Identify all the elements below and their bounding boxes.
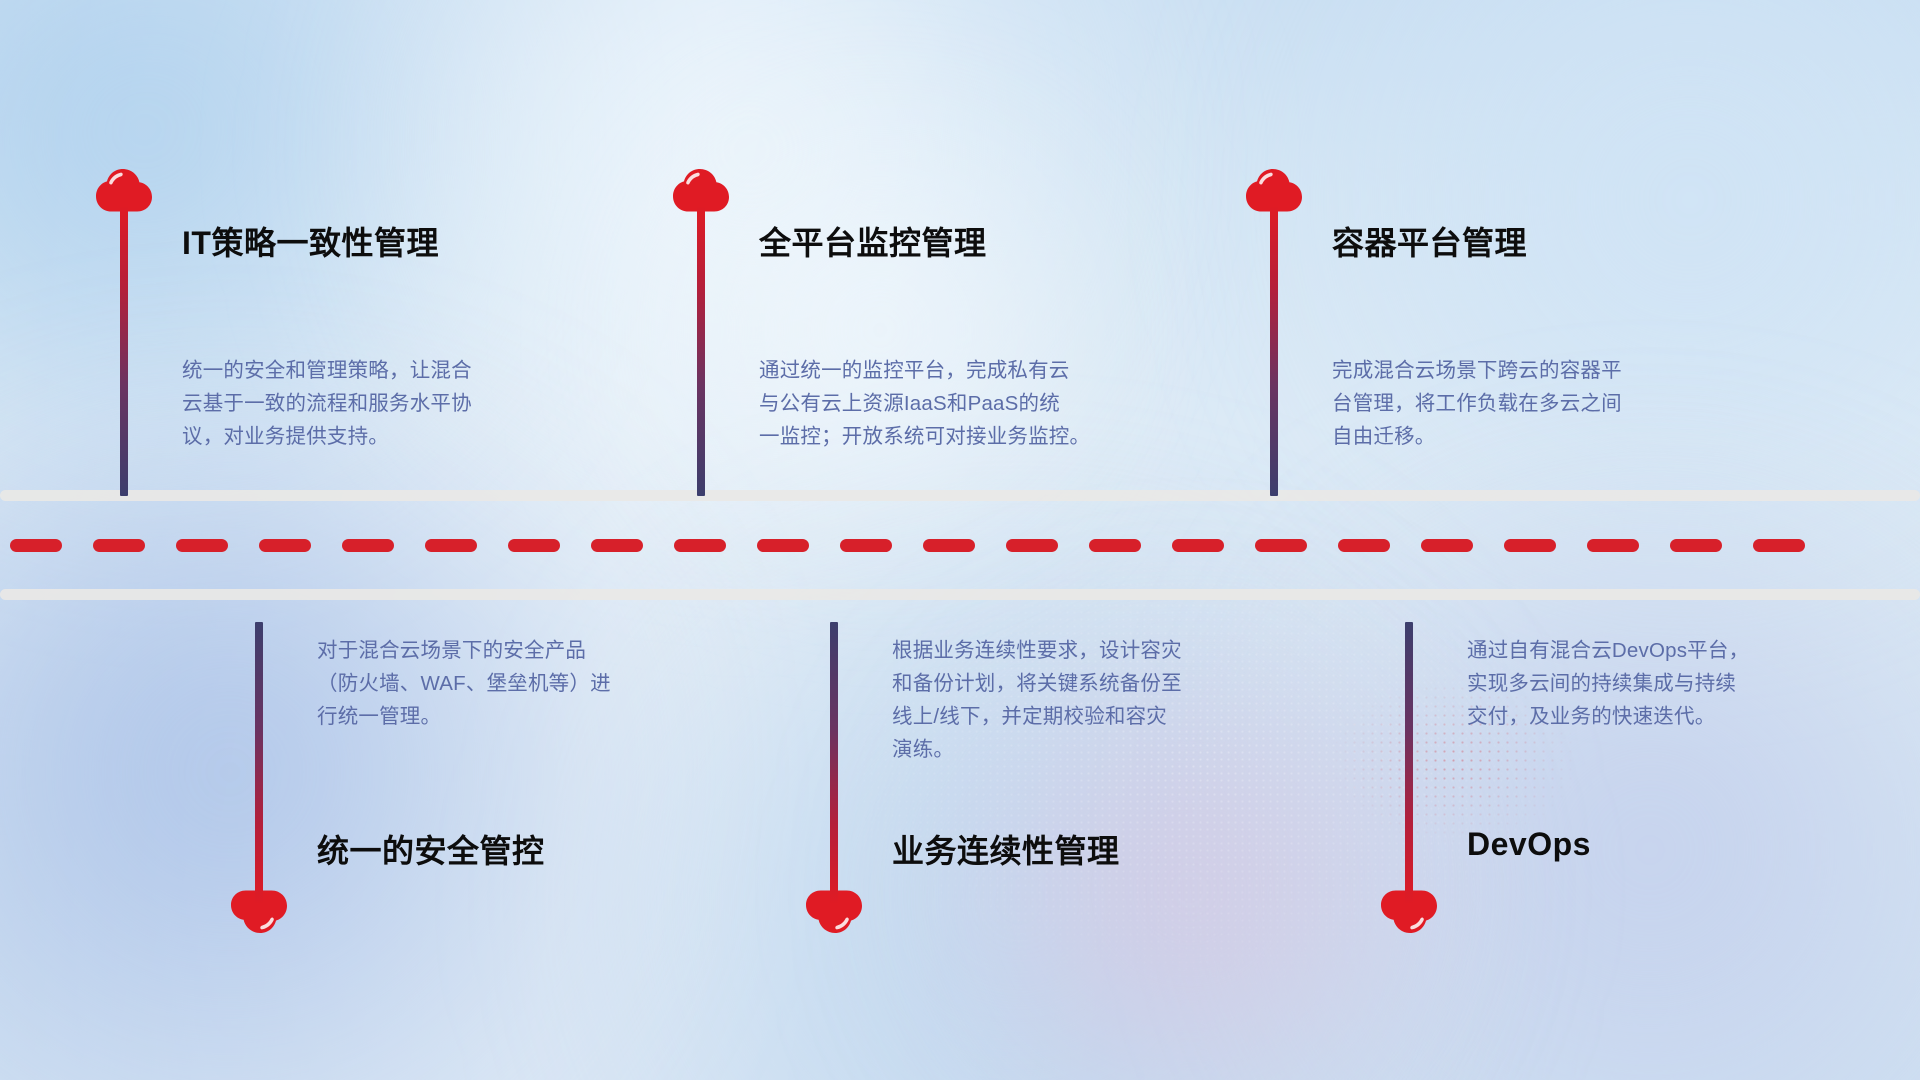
- divider-dash: [591, 539, 643, 552]
- divider-dash: [176, 539, 228, 552]
- feature-heading: 容器平台管理: [1332, 218, 1527, 264]
- divider-dashed-line: [0, 538, 1920, 552]
- feature-column-it-policy-consistency[interactable]: IT策略一致性管理 统一的安全和管理策略，让混合 云基于一致的流程和服务水平协 …: [120, 160, 560, 500]
- divider-dash: [923, 539, 975, 552]
- divider-dash: [425, 539, 477, 552]
- feature-heading: 全平台监控管理: [759, 218, 987, 264]
- divider-dash: [1172, 539, 1224, 552]
- feature-description: 完成混合云场景下跨云的容器平 台管理，将工作负载在多云之间 自由迁移。: [1332, 354, 1622, 453]
- divider-band: [0, 490, 1920, 600]
- divider-dash: [1006, 539, 1058, 552]
- divider-dash: [93, 539, 145, 552]
- connector-line: [830, 622, 838, 904]
- feature-heading: 业务连续性管理: [892, 826, 1120, 872]
- connector-line: [255, 622, 263, 904]
- divider-dash: [1089, 539, 1141, 552]
- feature-description: 通过自有混合云DevOps平台， 实现多云间的持续集成与持续 交付，及业务的快速…: [1467, 634, 1749, 733]
- divider-dash: [259, 539, 311, 552]
- feature-description: 通过统一的监控平台，完成私有云 与公有云上资源IaaS和PaaS的统 一监控；开…: [759, 354, 1090, 453]
- divider-dash: [1670, 539, 1722, 552]
- divider-dash: [1338, 539, 1390, 552]
- divider-dash: [840, 539, 892, 552]
- divider-dash: [1255, 539, 1307, 552]
- feature-column-unified-security[interactable]: 对于混合云场景下的安全产品 （防火墙、WAF、堡垒机等）进 行统一管理。 统一的…: [255, 622, 695, 942]
- feature-description: 根据业务连续性要求，设计容灾 和备份计划，将关键系统备份至 线上/线下，并定期校…: [892, 634, 1182, 766]
- feature-heading: DevOps: [1467, 826, 1591, 863]
- divider-dash: [1421, 539, 1473, 552]
- feature-description: 对于混合云场景下的安全产品 （防火墙、WAF、堡垒机等）进 行统一管理。: [317, 634, 611, 733]
- feature-description: 统一的安全和管理策略，让混合 云基于一致的流程和服务水平协 议，对业务提供支持。: [182, 354, 472, 453]
- divider-dash: [1753, 539, 1805, 552]
- feature-column-container-platform[interactable]: 容器平台管理 完成混合云场景下跨云的容器平 台管理，将工作负载在多云之间 自由迁…: [1270, 160, 1710, 500]
- feature-column-business-continuity[interactable]: 根据业务连续性要求，设计容灾 和备份计划，将关键系统备份至 线上/线下，并定期校…: [830, 622, 1270, 942]
- divider-dash: [1504, 539, 1556, 552]
- divider-dash: [757, 539, 809, 552]
- divider-rule-bottom: [0, 589, 1920, 600]
- connector-line: [1270, 206, 1278, 496]
- feature-heading: IT策略一致性管理: [182, 218, 439, 264]
- feature-heading: 统一的安全管控: [317, 826, 545, 872]
- connector-line: [1405, 622, 1413, 904]
- divider-dash: [1587, 539, 1639, 552]
- divider-dash: [10, 539, 62, 552]
- divider-dash: [508, 539, 560, 552]
- connector-line: [697, 206, 705, 496]
- divider-dash: [674, 539, 726, 552]
- connector-line: [120, 206, 128, 496]
- divider-dash: [342, 539, 394, 552]
- feature-column-devops[interactable]: 通过自有混合云DevOps平台， 实现多云间的持续集成与持续 交付，及业务的快速…: [1405, 622, 1855, 942]
- feature-column-full-platform-monitoring[interactable]: 全平台监控管理 通过统一的监控平台，完成私有云 与公有云上资源IaaS和PaaS…: [697, 160, 1147, 500]
